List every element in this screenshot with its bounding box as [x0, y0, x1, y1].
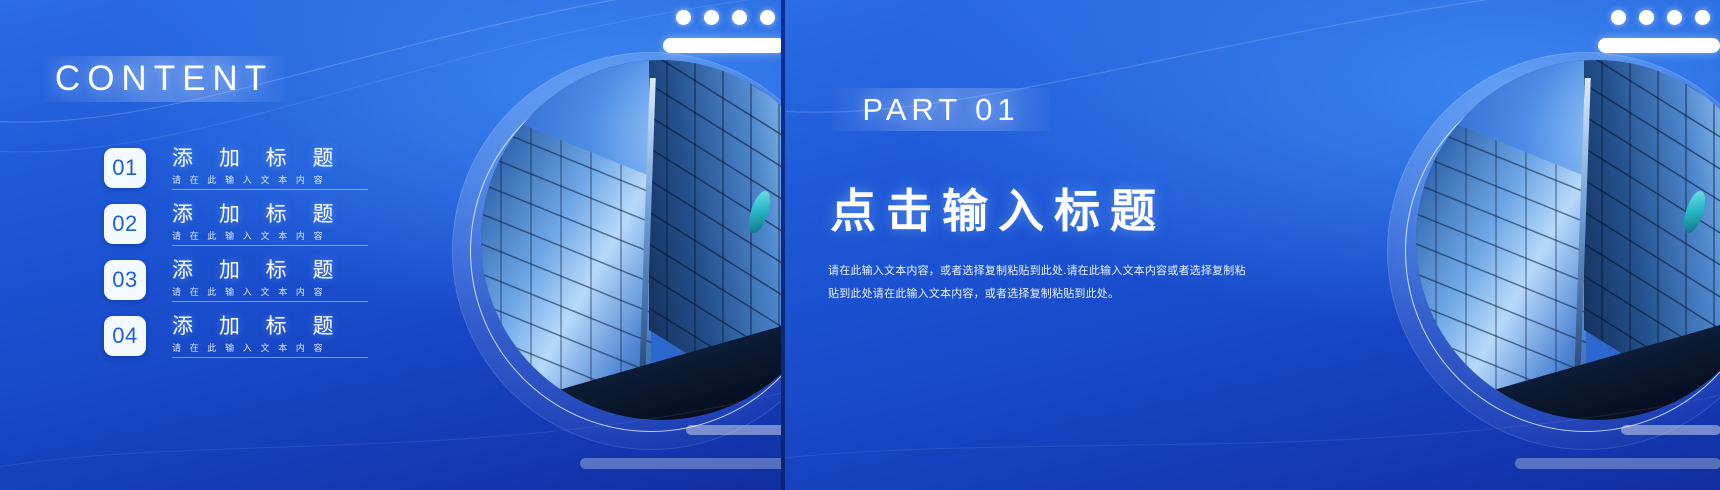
list-item-subtitle: 请 在 此 输 入 文 本 内 容 — [172, 285, 368, 302]
pill-bar-icon — [686, 425, 785, 435]
dot-icon — [1639, 10, 1654, 25]
dot-icon — [760, 10, 775, 25]
decor-dot-group — [676, 10, 775, 25]
list-item-title: 添 加 标 题 — [172, 204, 372, 226]
slide-content-page: CONTENT 01 添 加 标 题 请 在 此 输 入 文 本 内 容 02 … — [0, 0, 785, 490]
section-title: 点击输入标题 — [830, 175, 1166, 241]
list-item-subtitle: 请 在 此 输 入 文 本 内 容 — [172, 341, 368, 358]
pill-bar-icon — [580, 458, 785, 469]
decor-dot-group — [1611, 10, 1710, 25]
slide-deck-preview: CONTENT 01 添 加 标 题 请 在 此 输 入 文 本 内 容 02 … — [0, 0, 1720, 490]
list-item[interactable]: 02 添 加 标 题 请 在 此 输 入 文 本 内 容 — [104, 204, 372, 252]
pill-bar-icon — [663, 38, 785, 53]
page-title-text: CONTENT — [55, 59, 273, 99]
list-item[interactable]: 03 添 加 标 题 请 在 此 输 入 文 本 内 容 — [104, 260, 372, 308]
list-item[interactable]: 04 添 加 标 题 请 在 此 输 入 文 本 内 容 — [104, 316, 372, 364]
dot-icon — [676, 10, 691, 25]
list-item-number: 02 — [104, 204, 146, 244]
section-eyebrow-text: PART 01 — [862, 92, 1019, 128]
building-photo — [1416, 60, 1720, 420]
slide-divider — [781, 0, 785, 490]
building-photo — [481, 60, 785, 420]
section-paragraph: 请在此输入文本内容，或者选择复制粘贴到此处.请在此输入文本内容或者选择复制粘贴到… — [828, 260, 1256, 305]
list-item-subtitle: 请 在 此 输 入 文 本 内 容 — [172, 229, 368, 246]
pill-bar-icon — [1515, 458, 1720, 469]
dot-icon — [732, 10, 747, 25]
section-eyebrow: PART 01 — [832, 88, 1050, 131]
list-item-number: 04 — [104, 316, 146, 356]
page-title: CONTENT — [44, 56, 284, 102]
dot-icon — [704, 10, 719, 25]
dot-icon — [1667, 10, 1682, 25]
list-item-subtitle: 请 在 此 输 入 文 本 内 容 — [172, 173, 368, 190]
list-item-title: 添 加 标 题 — [172, 148, 372, 170]
dot-icon — [1611, 10, 1626, 25]
list-item-title: 添 加 标 题 — [172, 260, 372, 282]
pill-bar-icon — [1598, 38, 1720, 53]
list-item-number: 03 — [104, 260, 146, 300]
list-item-title: 添 加 标 题 — [172, 316, 372, 338]
list-item[interactable]: 01 添 加 标 题 请 在 此 输 入 文 本 内 容 — [104, 148, 372, 196]
pill-bar-icon — [1621, 425, 1720, 435]
content-list: 01 添 加 标 题 请 在 此 输 入 文 本 内 容 02 添 加 标 题 … — [104, 148, 372, 372]
list-item-number: 01 — [104, 148, 146, 188]
slide-section-page: PART 01 点击输入标题 请在此输入文本内容，或者选择复制粘贴到此处.请在此… — [785, 0, 1720, 490]
dot-icon — [1695, 10, 1710, 25]
